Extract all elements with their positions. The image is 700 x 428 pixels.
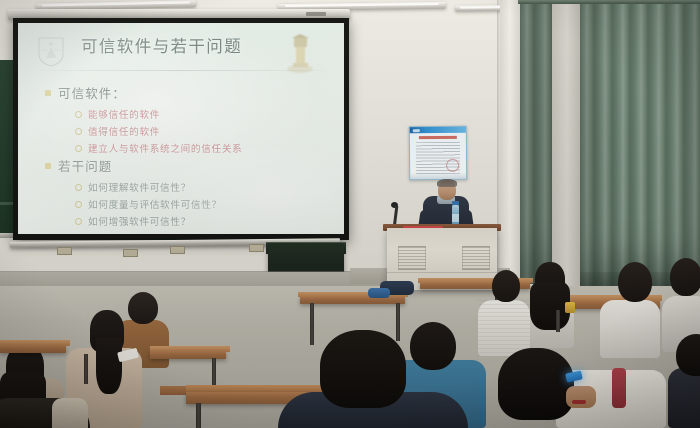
slide-bullet-text: 如何增强软件可信性？ xyxy=(88,214,191,228)
wall-pillar xyxy=(500,0,522,300)
slide-bullet-text: 能够信任的软件 xyxy=(88,107,160,121)
student-head xyxy=(618,262,652,302)
slide-section-2: 若干问题 如何理解软件可信性？ 如何度量与评估软件可信性？ 如何增强软件可信性？ xyxy=(45,156,325,231)
circle-bullet-icon xyxy=(75,201,82,208)
student-hair xyxy=(530,282,570,330)
slide-title: 可信软件与若干问题 xyxy=(81,39,242,56)
poster-title-line xyxy=(419,136,457,139)
slide-bullet-text: 建立人与软件系统之间的信任关系 xyxy=(88,141,242,155)
wrist-band xyxy=(572,400,586,404)
slide-bullet-item: 建立人与软件系统之间的信任关系 xyxy=(75,141,325,155)
projection-screen: 可信软件与若干问题 可信软件： 能够信任的软件 值得信任的软件 xyxy=(13,18,349,240)
wall-pillar xyxy=(552,0,582,292)
rail-clip xyxy=(170,246,185,254)
slide-bullet-text: 如何理解软件可信性？ xyxy=(88,180,191,194)
slide-heading: 若干问题 xyxy=(58,156,112,175)
student-torso xyxy=(600,300,660,358)
square-bullet-icon xyxy=(45,163,51,169)
red-strap xyxy=(612,368,626,408)
desk-leg xyxy=(196,403,201,428)
slide-bullet-item: 如何理解软件可信性？ xyxy=(75,180,325,194)
slide-bullet-text: 如何度量与评估软件可信性？ xyxy=(88,197,222,211)
slide-bullet-item: 如何度量与评估软件可信性？ xyxy=(75,197,325,211)
student-head xyxy=(670,258,700,296)
presentation-slide: 可信软件与若干问题 可信软件： 能够信任的软件 值得信任的软件 xyxy=(23,28,339,228)
slide-bullet-text: 值得信任的软件 xyxy=(88,124,160,138)
slide-heading-row: 可信软件： xyxy=(45,83,325,102)
window-curtain xyxy=(520,0,554,284)
window-curtain xyxy=(580,0,700,292)
student-head xyxy=(320,330,406,408)
shirt-stripes xyxy=(478,300,530,356)
square-bullet-icon xyxy=(45,90,51,96)
poster-header-band xyxy=(410,127,466,133)
lecture-hall-photo: 可信软件与若干问题 可信软件： 能够信任的软件 值得信任的软件 xyxy=(0,0,700,428)
rail-clip xyxy=(123,249,138,257)
student-hand xyxy=(566,386,596,408)
desk-leg xyxy=(556,310,560,332)
desk-leg xyxy=(84,354,88,384)
curtain-rod xyxy=(518,0,700,4)
slide-bullet-item: 如何增强软件可信性？ xyxy=(75,214,325,228)
student-head xyxy=(128,292,158,324)
circle-bullet-icon xyxy=(75,145,82,152)
rail-clip xyxy=(57,247,72,255)
podium-vent-panel xyxy=(398,246,426,270)
student-head xyxy=(498,348,574,420)
student-head xyxy=(410,322,456,370)
student-desk xyxy=(300,296,405,304)
wall-notice-poster xyxy=(409,126,467,181)
blue-bag xyxy=(368,288,390,298)
housing-cap xyxy=(306,12,326,16)
slide-bullet-item: 值得信任的软件 xyxy=(75,124,325,138)
bag-strap xyxy=(52,398,88,428)
slide-title-rule xyxy=(35,70,325,71)
slide-bullet-item: 能够信任的软件 xyxy=(75,107,325,121)
circle-bullet-icon xyxy=(75,184,82,191)
slide-heading: 可信软件： xyxy=(58,83,126,102)
student-hair xyxy=(96,338,122,394)
circle-bullet-icon xyxy=(75,218,82,225)
desk-leg xyxy=(310,303,314,345)
student-desk xyxy=(0,345,66,353)
student-head xyxy=(492,270,520,302)
podium-vent-panel xyxy=(462,246,490,270)
poster-seal-stamp-icon xyxy=(446,159,459,172)
slide-section-1: 可信软件： 能够信任的软件 值得信任的软件 建立人与软件系统之间的信任关系 xyxy=(45,83,325,158)
projection-screen-surface: 可信软件与若干问题 可信软件： 能够信任的软件 值得信任的软件 xyxy=(18,23,344,234)
slide-heading-row: 若干问题 xyxy=(45,156,325,175)
university-shield-emblem-icon xyxy=(38,37,64,67)
circle-bullet-icon xyxy=(75,111,82,118)
gold-tower-graphic-icon xyxy=(283,34,317,74)
rail-clip xyxy=(249,244,264,252)
desk-leg xyxy=(396,303,400,341)
student-torso xyxy=(668,368,700,428)
hair-clip xyxy=(565,302,575,313)
water-bottle-label xyxy=(452,214,459,222)
lecturer-hair xyxy=(437,179,457,187)
podium-seam xyxy=(387,272,497,273)
circle-bullet-icon xyxy=(75,128,82,135)
